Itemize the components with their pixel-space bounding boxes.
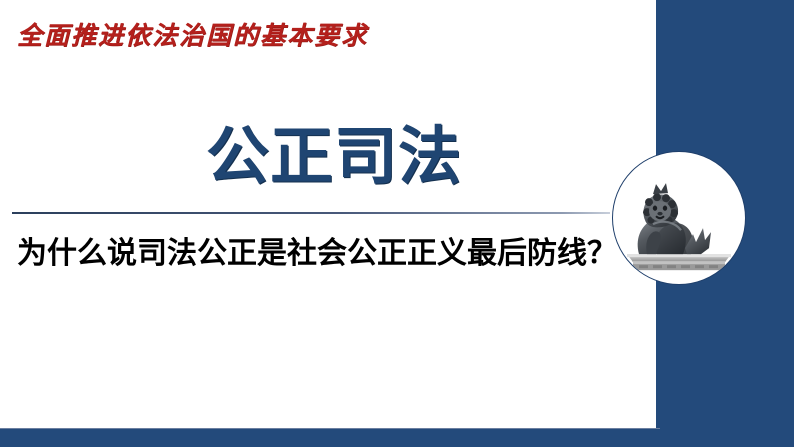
- subtitle-question: 为什么说司法公正是社会公正正义最后防线？: [17, 228, 617, 272]
- page-title: 公正司法: [206, 124, 462, 190]
- slide-canvas: 全面推进依法治国的基本要求 公正司法 为什么说司法公正是社会公正正义最后防线？: [0, 0, 794, 447]
- title-divider-rule: [12, 212, 610, 214]
- red-brush-heading: 全面推进依法治国的基本要求: [17, 16, 368, 52]
- bottom-blue-bar: [0, 429, 794, 447]
- circle-photo-frame: [612, 151, 746, 285]
- xiezhi-lion-statue-photo-icon: [623, 170, 735, 274]
